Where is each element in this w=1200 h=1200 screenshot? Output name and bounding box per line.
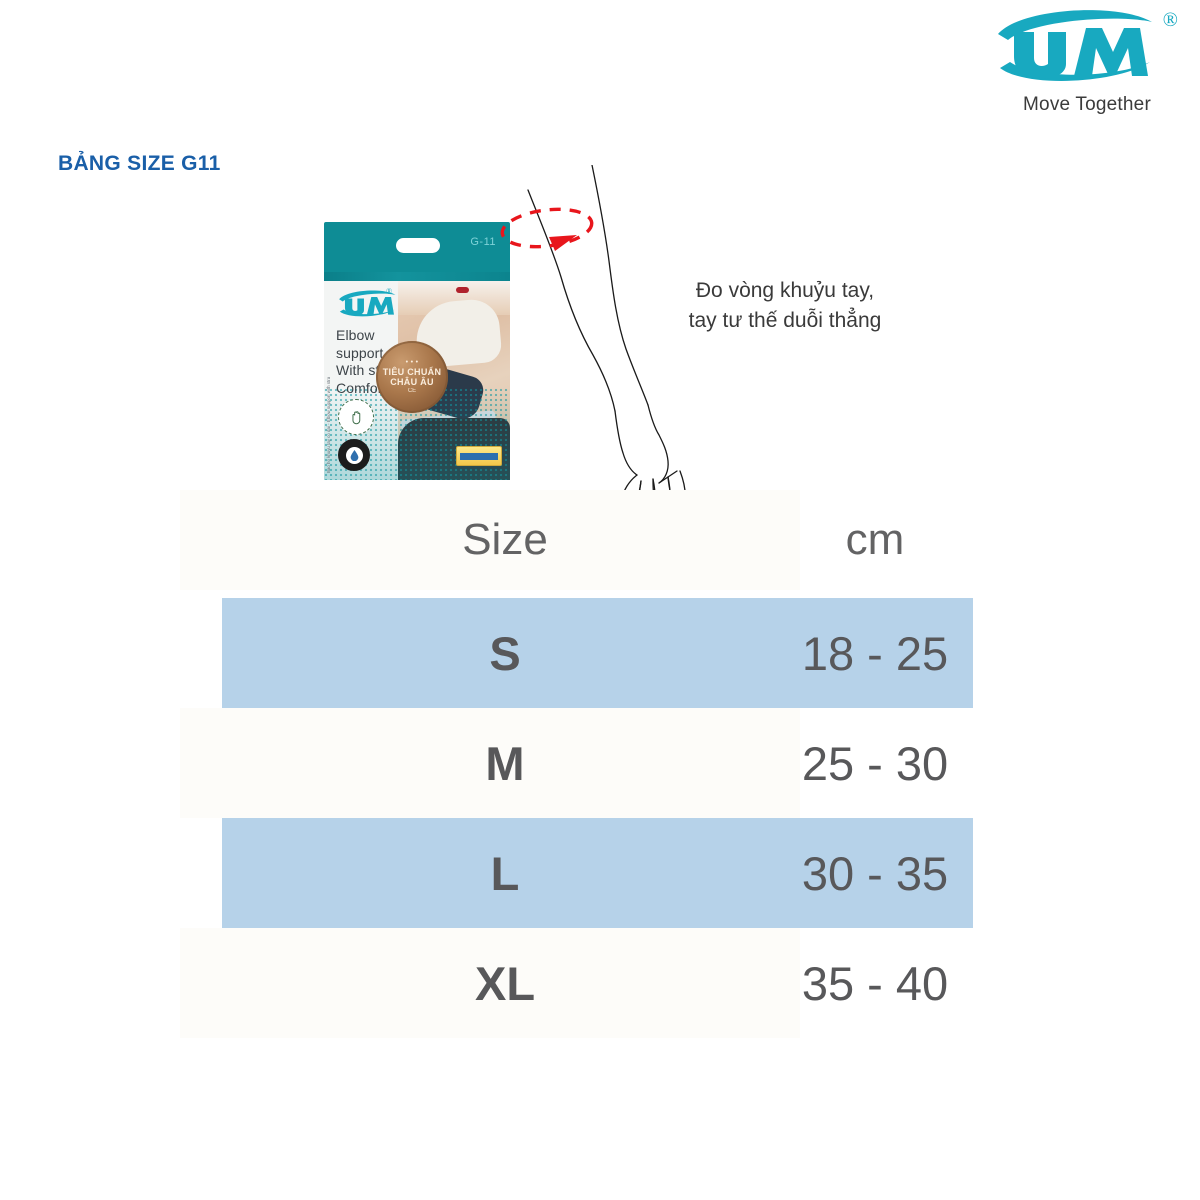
column-header-unit: cm (710, 490, 1040, 590)
cell-size-s: S (360, 598, 650, 708)
cell-cm-l: 30 - 35 (710, 818, 1040, 928)
cell-size-m: M (360, 708, 650, 818)
cell-cm-m: 25 - 30 (710, 708, 1040, 818)
size-table: Size cm S 18 - 25 M 25 - 30 L 30 - 35 XL… (180, 490, 973, 1030)
cell-cm-s: 18 - 25 (710, 598, 1040, 708)
table-row: M 25 - 30 (180, 708, 973, 818)
cell-size-l: L (360, 818, 650, 928)
brand-tagline: Move Together (992, 94, 1182, 116)
measure-instruction: Đo vòng khuỷu tay, tay tư thế duỗi thẳng (640, 276, 930, 336)
package-header-band: G-11 (324, 222, 510, 272)
package-side-text: Bao ho khuyu tay co dai - Elbow support … (326, 377, 335, 473)
european-standard-seal-icon: • • • TIÊU CHUẨN CHÂU ÂU CE (376, 341, 448, 413)
brand-logo: ® Move Together (992, 6, 1182, 126)
package-accent-strip (324, 272, 510, 281)
um-logo-icon (992, 6, 1162, 88)
photo-lips (456, 287, 469, 293)
size-chart-page: ® Move Together BẢNG SIZE G11 G-11 (0, 0, 1200, 1200)
measure-instruction-line2: tay tư thế duỗi thẳng (640, 306, 930, 336)
measure-arrow-icon (549, 235, 577, 251)
package-top-code: G-11 (470, 236, 496, 248)
measure-instruction-line1: Đo vòng khuỷu tay, (640, 276, 930, 306)
hang-hole-icon (396, 238, 440, 253)
table-row: XL 35 - 40 (180, 928, 973, 1038)
sticker-bar (460, 453, 498, 460)
table-row: S 18 - 25 (180, 598, 973, 708)
registered-trademark-icon: ® (1163, 10, 1178, 30)
cell-cm-xl: 35 - 40 (710, 928, 1040, 1038)
product-package-image: G-11 ® Elbow suppo (324, 222, 510, 480)
measure-ellipse-icon (500, 205, 594, 252)
water-drop-icon (338, 439, 370, 471)
package-front: ® Elbow support With strap Comfort Bao h… (324, 281, 510, 480)
cell-size-xl: XL (360, 928, 650, 1038)
package-registered-trademark-icon: ® (386, 287, 392, 296)
hand-wash-icon (338, 399, 374, 435)
column-header-size: Size (360, 490, 650, 590)
table-header-row: Size cm (180, 490, 973, 590)
seal-line-2: TIÊU CHUẨN CHÂU ÂU (376, 367, 448, 388)
table-row: L 30 - 35 (180, 818, 973, 928)
seal-line-1: • • • (406, 359, 419, 367)
page-title: BẢNG SIZE G11 (58, 152, 221, 176)
water-drop-inner (346, 447, 363, 464)
seal-line-3: CE (408, 388, 416, 395)
